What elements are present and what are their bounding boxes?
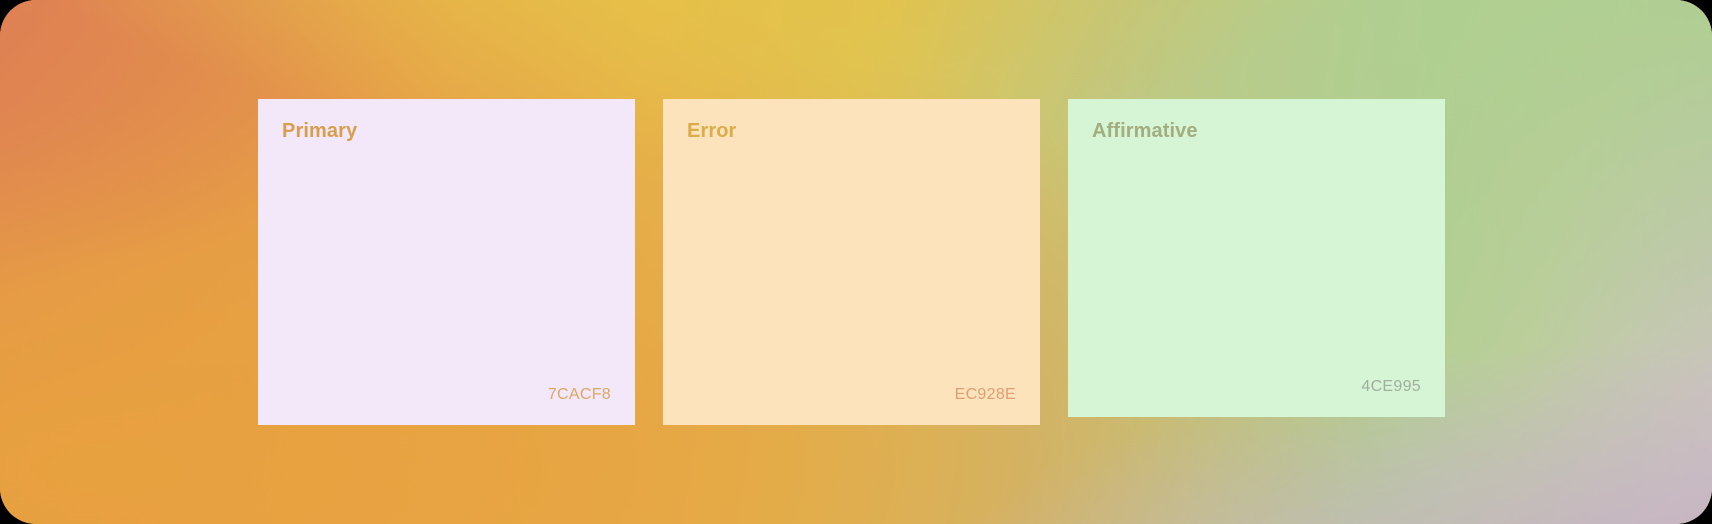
color-swatch-card-affirmative[interactable]: Affirmative 4CE995	[1068, 99, 1445, 417]
swatch-label: Primary	[282, 121, 611, 141]
swatch-label: Affirmative	[1092, 121, 1421, 141]
swatch-hex-value: 7CACF8	[548, 387, 611, 403]
gradient-backdrop: Primary 7CACF8 Error EC928E Affirmative …	[0, 0, 1712, 524]
swatch-label: Error	[687, 121, 1016, 141]
swatch-hex-value: EC928E	[955, 387, 1016, 403]
color-swatch-card-primary[interactable]: Primary 7CACF8	[258, 99, 635, 425]
swatch-canvas: Primary 7CACF8 Error EC928E Affirmative …	[0, 0, 1712, 524]
color-swatch-card-error[interactable]: Error EC928E	[663, 99, 1040, 425]
swatch-hex-value: 4CE995	[1361, 379, 1421, 395]
